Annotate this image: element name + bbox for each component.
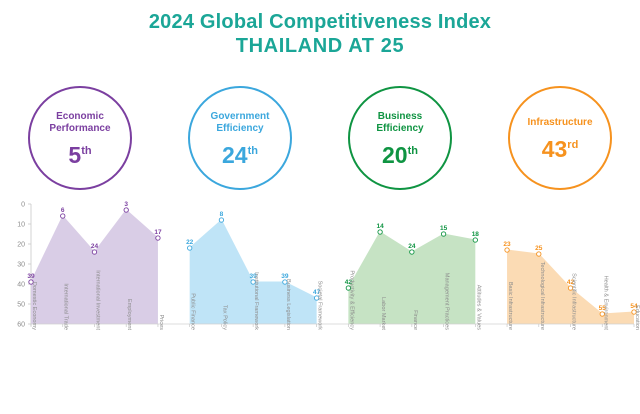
data-point[interactable]	[473, 238, 477, 242]
pillar-rank-suffix: th	[81, 144, 91, 157]
x-axis-label: Domestic Economy	[31, 282, 37, 330]
x-axis-label: Attitudes & Values	[475, 285, 481, 330]
data-point-label: 8	[220, 211, 224, 218]
data-point-label: 17	[154, 229, 162, 236]
data-point[interactable]	[219, 218, 223, 222]
chart-svg: 0102030405060 39624317228393947421424151…	[0, 196, 640, 414]
data-point[interactable]	[124, 208, 128, 212]
pillar-label-line-1: Economic	[56, 111, 104, 122]
data-point-label: 3	[124, 201, 128, 208]
pillar-rank-suffix: th	[408, 144, 418, 157]
x-axis-label: Business Legislation	[285, 279, 291, 330]
x-axis-label: Management Practices	[444, 273, 450, 330]
pillar-label-line-2: Efficiency	[216, 123, 263, 134]
pillar-rank-number: 20	[382, 144, 408, 167]
pillar-rank-business-efficiency: 20 th	[382, 144, 418, 167]
title-line-1: 2024 Global Competitiveness Index	[0, 10, 640, 34]
data-point[interactable]	[156, 236, 160, 240]
competitiveness-area-chart: 0102030405060 39624317228393947421424151…	[0, 196, 640, 414]
pillar-label-infrastructure: Infrastructure	[521, 117, 598, 129]
x-axis-label: Technological Infrastructure	[539, 262, 545, 330]
x-axis-label: Labor Market	[380, 297, 386, 330]
chart-area-government-efficiency	[190, 220, 317, 324]
data-point[interactable]	[537, 252, 541, 256]
x-axis-label: Employment	[126, 299, 132, 331]
pillar-rank-suffix: rd	[567, 138, 578, 151]
x-axis-label: Tax Policy	[221, 305, 227, 330]
y-axis-tick-label: 0	[21, 202, 25, 209]
data-point[interactable]	[441, 232, 445, 236]
data-point[interactable]	[378, 230, 382, 234]
pillar-circle-infrastructure[interactable]: Infrastructure 43 rd	[508, 86, 612, 190]
pillar-circle-government-efficiency[interactable]: Government Efficiency 24 th	[188, 86, 292, 190]
pillar-rank-number: 43	[542, 138, 568, 161]
pillar-rank-number: 5	[68, 144, 81, 167]
chart-area-economic-performance	[31, 210, 158, 324]
title-line-2: THAILAND AT 25	[0, 34, 640, 58]
pillar-circle-group: Economic Performance 5 th Government Eff…	[0, 86, 640, 190]
pillar-circle-economic-performance[interactable]: Economic Performance 5 th	[28, 86, 132, 190]
pillar-label-business-efficiency: Business Efficiency	[370, 111, 429, 135]
y-axis-tick-label: 40	[17, 282, 25, 289]
data-point-label: 14	[376, 223, 384, 230]
page-title: 2024 Global Competitiveness Index THAILA…	[0, 0, 640, 58]
pillar-rank-suffix: th	[248, 144, 258, 157]
x-axis-label: Public Finance	[190, 293, 196, 330]
y-axis-tick-label: 20	[17, 242, 25, 249]
y-axis-tick-label: 10	[17, 222, 25, 229]
pillar-rank-economic-performance: 5 th	[68, 144, 91, 167]
data-point-label: 15	[440, 225, 448, 232]
data-point[interactable]	[92, 250, 96, 254]
pillar-label-line-2: Efficiency	[376, 123, 423, 134]
pillar-rank-government-efficiency: 24 th	[222, 144, 258, 167]
data-point-label: 23	[503, 241, 511, 248]
data-point-label: 22	[186, 239, 194, 246]
data-point-label: 6	[61, 207, 65, 214]
pillar-label-line-2: Performance	[49, 123, 110, 134]
data-point-label: 24	[91, 243, 99, 250]
data-point-label: 18	[472, 231, 480, 238]
pillar-label-line-1: Business	[378, 111, 422, 122]
data-point[interactable]	[505, 248, 509, 252]
x-axis-label: Scientific Infrastructure	[571, 273, 577, 330]
data-point[interactable]	[187, 246, 191, 250]
data-point-label: 25	[535, 245, 543, 252]
x-axis-label: Societal Framework	[317, 281, 323, 331]
pillar-circle-business-efficiency[interactable]: Business Efficiency 20 th	[348, 86, 452, 190]
data-point[interactable]	[61, 214, 65, 218]
x-axis-label: Institutional Framework	[253, 272, 259, 330]
x-axis-label: Productivity & Efficiency	[348, 270, 354, 330]
pillar-rank-number: 24	[222, 144, 248, 167]
data-point[interactable]	[410, 250, 414, 254]
pillar-label-government-efficiency: Government Efficiency	[205, 111, 276, 135]
x-axis-label: Health & Environment	[602, 276, 608, 331]
y-axis-tick-label: 50	[17, 302, 25, 309]
data-point-label: 24	[408, 243, 416, 250]
x-axis-label: Education	[634, 305, 640, 330]
y-axis-tick-label: 30	[17, 262, 25, 269]
pillar-rank-infrastructure: 43 rd	[542, 138, 579, 161]
data-point-label: 39	[27, 273, 35, 280]
pillar-label-line-1: Government	[211, 111, 270, 122]
chart-y-axis: 0102030405060	[17, 202, 31, 329]
pillar-label-economic-performance: Economic Performance	[43, 111, 116, 135]
x-axis-label: International Investment	[94, 270, 100, 330]
pillar-label-line-1: Infrastructure	[527, 117, 592, 128]
y-axis-tick-label: 60	[17, 322, 25, 329]
x-axis-label: International Trade	[63, 283, 69, 330]
x-axis-label: Basic Infrastructure	[507, 282, 513, 330]
x-axis-label: Finance	[412, 310, 418, 330]
x-axis-label: Prices	[158, 314, 164, 330]
